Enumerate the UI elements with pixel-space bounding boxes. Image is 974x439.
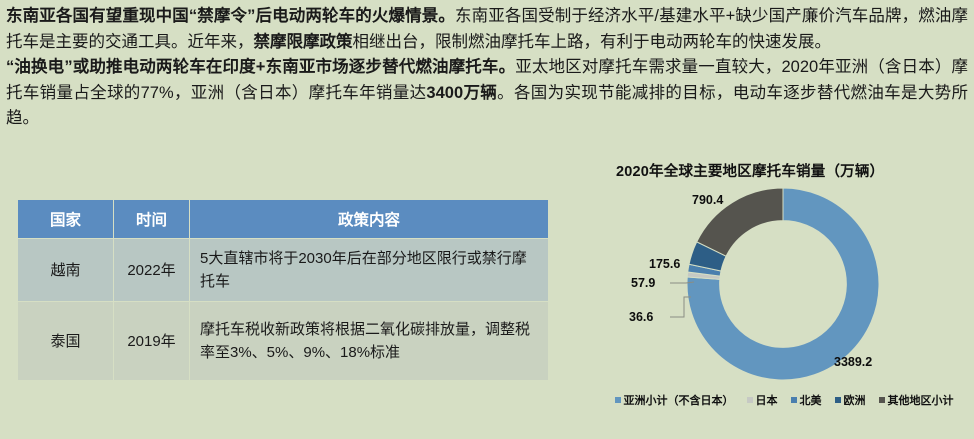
donut-slice-value-label: 57.9 — [631, 276, 655, 290]
legend-item-other[interactable]: 其他地区小计 — [879, 392, 954, 408]
table-cell-policy: 摩托车税收新政策将根据二氧化碳排放量，调整税率至3%、5%、9%、18%标准 — [190, 302, 549, 381]
legend-label-japan: 日本 — [756, 392, 778, 408]
table-cell-time: 2019年 — [114, 302, 190, 381]
table-cell-country: 越南 — [18, 239, 114, 302]
table-row: 泰国 2019年 摩托车税收新政策将根据二氧化碳排放量，调整税率至3%、5%、9… — [18, 302, 549, 381]
legend-label-asia: 亚洲小计（不含日本） — [624, 392, 734, 408]
table-header-policy: 政策内容 — [190, 200, 549, 239]
table-cell-time: 2022年 — [114, 239, 190, 302]
legend-label-europe: 欧洲 — [844, 392, 866, 408]
chart-title: 2020年全球主要地区摩托车销量（万辆） — [616, 160, 884, 181]
table-header-time: 时间 — [114, 200, 190, 239]
legend-label-other: 其他地区小计 — [888, 392, 954, 408]
chart-legend: 亚洲小计（不含日本） 日本 北美 欧洲 其他地区小计 — [594, 392, 974, 408]
legend-swatch-north-america — [791, 397, 797, 403]
leader-line — [670, 282, 694, 283]
legend-item-europe[interactable]: 欧洲 — [835, 392, 866, 408]
legend-label-north-america: 北美 — [800, 392, 822, 408]
table-cell-country: 泰国 — [18, 302, 114, 381]
donut-slice-value-label: 36.6 — [629, 310, 653, 324]
table-row: 越南 2022年 5大直辖市将于2030年后在部分地区限行或禁行摩托车 — [18, 239, 549, 302]
legend-swatch-asia — [615, 397, 621, 403]
table-header-country: 国家 — [18, 200, 114, 239]
donut-chart-svg: 3389.236.657.9175.6790.4 — [594, 180, 974, 390]
donut-slice-value-label: 175.6 — [649, 257, 680, 271]
donut-slice-value-label: 790.4 — [692, 193, 723, 207]
legend-item-north-america[interactable]: 北美 — [791, 392, 822, 408]
article-text-block: 东南亚各国有望重现中国“禁摩令”后电动两轮车的火爆情景。东南亚各国受制于经济水平… — [6, 4, 968, 132]
legend-swatch-other — [879, 397, 885, 403]
donut-chart: 3389.236.657.9175.6790.4 — [594, 180, 974, 390]
chart-panel: 2020年全球主要地区摩托车销量（万辆） 3389.236.657.9175.6… — [594, 156, 974, 436]
legend-swatch-europe — [835, 397, 841, 403]
paragraph-1-lead: 东南亚各国有望重现中国“禁摩令”后电动两轮车的火爆情景。 — [6, 7, 455, 25]
paragraph-1-emphasis: 禁摩限摩政策 — [254, 33, 353, 51]
paragraph-2-emphasis: 3400万辆 — [426, 84, 497, 102]
paragraph-1-part-2: 相继出台，限制燃油摩托车上路，有利于电动两轮车的快速发展。 — [353, 33, 832, 51]
table-header-row: 国家 时间 政策内容 — [18, 200, 549, 239]
donut-slice-value-label: 3389.2 — [834, 355, 872, 369]
policy-table: 国家 时间 政策内容 越南 2022年 5大直辖市将于2030年后在部分地区限行… — [17, 199, 549, 381]
legend-item-japan[interactable]: 日本 — [747, 392, 778, 408]
paragraph-2: “油换电”或助推电动两轮车在印度+东南亚市场逐步替代燃油摩托车。亚太地区对摩托车… — [6, 55, 968, 132]
paragraph-1: 东南亚各国有望重现中国“禁摩令”后电动两轮车的火爆情景。东南亚各国受制于经济水平… — [6, 4, 968, 55]
paragraph-2-lead: “油换电”或助推电动两轮车在印度+东南亚市场逐步替代燃油摩托车。 — [6, 58, 515, 76]
legend-swatch-japan — [747, 397, 753, 403]
table-cell-policy: 5大直辖市将于2030年后在部分地区限行或禁行摩托车 — [190, 239, 549, 302]
legend-item-asia[interactable]: 亚洲小计（不含日本） — [615, 392, 734, 408]
donut-slices — [687, 188, 879, 380]
